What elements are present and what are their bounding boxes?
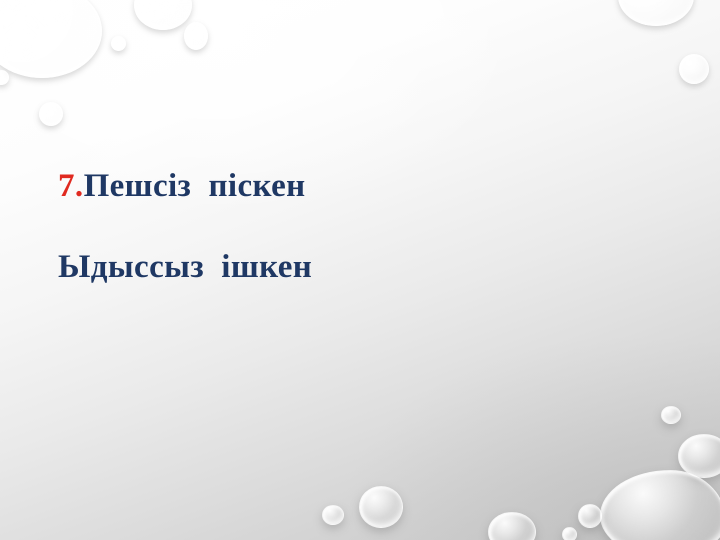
slide-text-block: 7.Пешсіз піскен Ыдыссыз ішкен <box>58 160 678 284</box>
bubble-icon <box>600 470 720 540</box>
bubble-icon <box>134 0 192 30</box>
bubble-icon <box>0 70 9 85</box>
line-1-number: 7. <box>58 168 84 204</box>
line-1-text: Пешсіз піскен <box>84 168 306 204</box>
bubble-icon <box>0 0 102 78</box>
slide-canvas: 7.Пешсіз піскен Ыдыссыз ішкен <box>0 0 720 540</box>
bubble-icon <box>578 504 602 528</box>
bubble-icon <box>562 527 577 540</box>
bubble-icon <box>39 102 63 126</box>
bubble-icon <box>184 22 208 50</box>
bubble-icon <box>359 486 403 528</box>
bubble-icon <box>679 54 709 84</box>
line-2-text: Ыдыссыз ішкен <box>58 249 312 285</box>
bubble-icon <box>322 505 344 525</box>
slide-line-1: 7.Пешсіз піскен <box>58 160 678 203</box>
slide-line-2: Ыдыссыз ішкен <box>58 251 678 284</box>
bubble-icon <box>111 36 126 51</box>
bubble-icon <box>678 434 720 478</box>
bubble-icon <box>618 0 694 26</box>
bubble-icon <box>661 406 681 424</box>
bubble-icon <box>488 512 536 540</box>
